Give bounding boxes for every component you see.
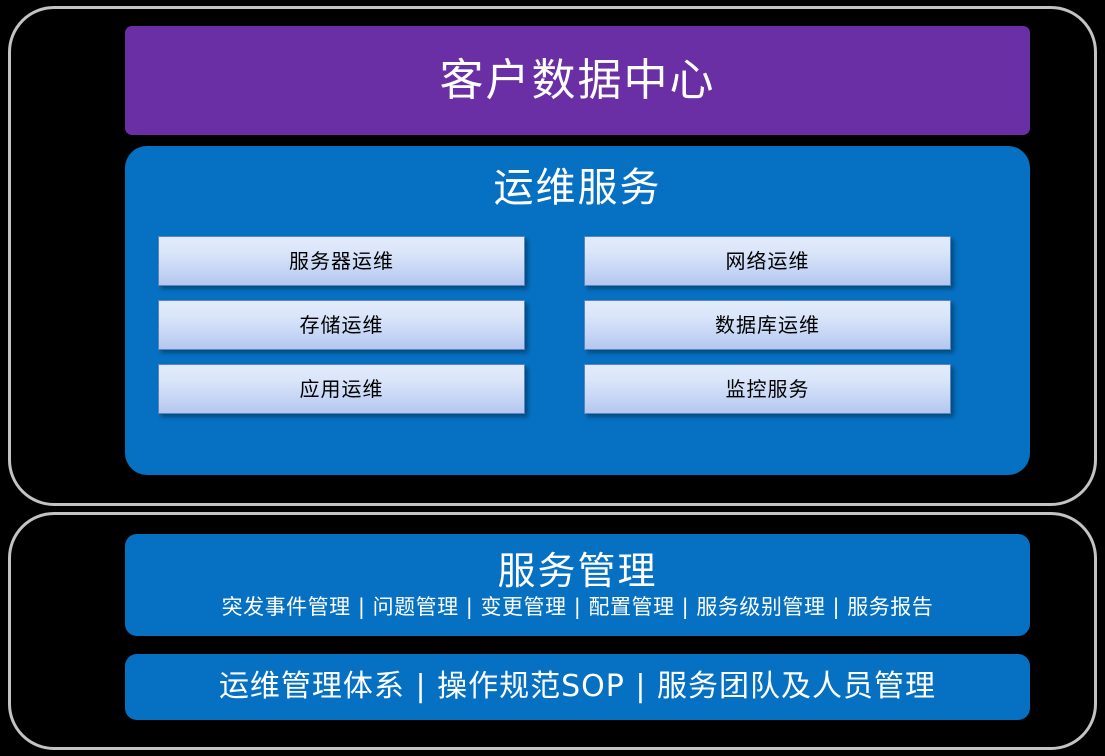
service-box-label: 网络运维 <box>726 251 810 271</box>
customer-data-center-title: 客户数据中心 <box>440 59 716 103</box>
foundation-band: 运维管理体系 | 操作规范SOP | 服务团队及人员管理 <box>125 654 1030 720</box>
service-box-server-ops[interactable]: 服务器运维 <box>158 236 525 286</box>
service-box-label: 数据库运维 <box>715 315 820 335</box>
ops-service-title: 运维服务 <box>125 168 1030 208</box>
service-box-label: 监控服务 <box>726 379 810 399</box>
service-box-label: 应用运维 <box>300 379 384 399</box>
service-management-subtitle: 突发事件管理 | 问题管理 | 变更管理 | 配置管理 | 服务级别管理 | 服… <box>222 597 934 618</box>
service-box-monitoring-service[interactable]: 监控服务 <box>584 364 951 414</box>
service-box-application-ops[interactable]: 应用运维 <box>158 364 525 414</box>
service-box-storage-ops[interactable]: 存储运维 <box>158 300 525 350</box>
ops-service-panel: 运维服务 服务器运维 网络运维 存储运维 数据库运维 应用运维 监控服务 <box>125 146 1030 475</box>
service-box-network-ops[interactable]: 网络运维 <box>584 236 951 286</box>
service-box-label: 服务器运维 <box>289 251 394 271</box>
service-box-label: 存储运维 <box>300 315 384 335</box>
service-management-title: 服务管理 <box>497 552 657 592</box>
foundation-band-label: 运维管理体系 | 操作规范SOP | 服务团队及人员管理 <box>219 672 936 702</box>
ops-service-grid: 服务器运维 网络运维 存储运维 数据库运维 应用运维 监控服务 <box>158 236 998 414</box>
service-management-band: 服务管理 突发事件管理 | 问题管理 | 变更管理 | 配置管理 | 服务级别管… <box>125 534 1030 636</box>
service-box-database-ops[interactable]: 数据库运维 <box>584 300 951 350</box>
customer-data-center-header: 客户数据中心 <box>125 26 1030 135</box>
